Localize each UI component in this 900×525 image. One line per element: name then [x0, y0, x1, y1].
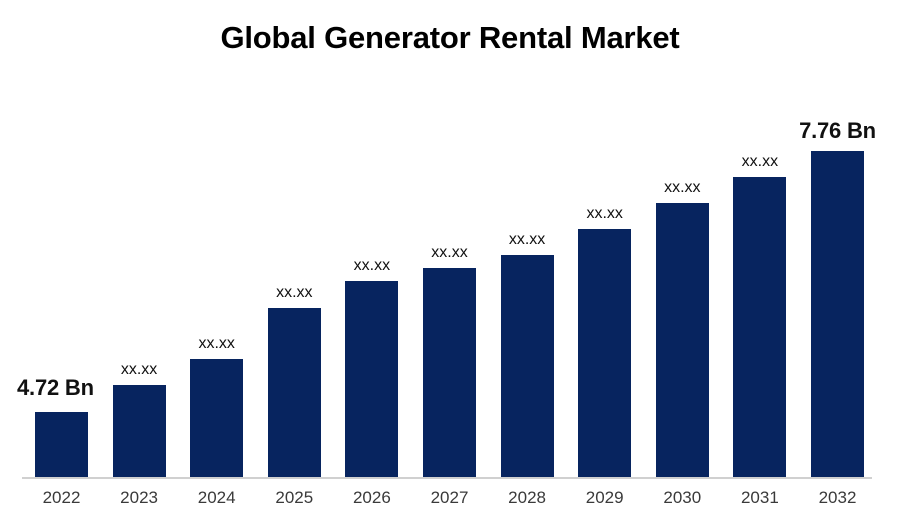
- x-axis-label-2024: 2024: [176, 488, 257, 508]
- x-axis-label-2030: 2030: [642, 488, 723, 508]
- bar-value-label-2029: xx.xx: [562, 205, 647, 223]
- bar-value-label-2024: xx.xx: [174, 335, 259, 353]
- bar-2028[interactable]: [501, 255, 554, 477]
- x-axis-label-2029: 2029: [564, 488, 645, 508]
- bar-2027[interactable]: [423, 268, 476, 477]
- bar-2030[interactable]: [656, 203, 709, 477]
- plot-area: 4.72 Bn2022xx.xx2023xx.xx2024xx.xx2025xx…: [0, 0, 900, 525]
- bar-2031[interactable]: [733, 177, 786, 477]
- x-axis-label-2032: 2032: [797, 488, 878, 508]
- bar-value-label-2031: xx.xx: [717, 153, 802, 171]
- bar-value-label-2030: xx.xx: [640, 179, 725, 197]
- x-axis-label-2031: 2031: [719, 488, 800, 508]
- bar-2032[interactable]: [811, 151, 864, 477]
- bar-value-label-2026: xx.xx: [329, 257, 414, 275]
- x-axis-label-2022: 2022: [21, 488, 102, 508]
- x-axis-label-2025: 2025: [254, 488, 335, 508]
- x-axis-label-2026: 2026: [331, 488, 412, 508]
- bar-value-label-2025: xx.xx: [252, 284, 337, 302]
- bar-2026[interactable]: [345, 281, 398, 477]
- bar-value-label-2023: xx.xx: [97, 361, 182, 379]
- bar-2022[interactable]: [35, 412, 88, 477]
- bar-value-label-2022: 4.72 Bn: [17, 376, 107, 400]
- x-axis-line: [22, 477, 872, 479]
- chart-container: Global Generator Rental Market 4.72 Bn20…: [0, 0, 900, 525]
- x-axis-label-2028: 2028: [487, 488, 568, 508]
- bar-value-label-2027: xx.xx: [407, 244, 492, 262]
- bar-2025[interactable]: [268, 308, 321, 477]
- x-axis-label-2023: 2023: [99, 488, 180, 508]
- x-axis-label-2027: 2027: [409, 488, 490, 508]
- bar-2023[interactable]: [113, 385, 166, 477]
- bar-2029[interactable]: [578, 229, 631, 477]
- bar-value-label-2028: xx.xx: [485, 231, 570, 249]
- bar-value-label-2032: 7.76 Bn: [791, 119, 884, 143]
- bar-2024[interactable]: [190, 359, 243, 477]
